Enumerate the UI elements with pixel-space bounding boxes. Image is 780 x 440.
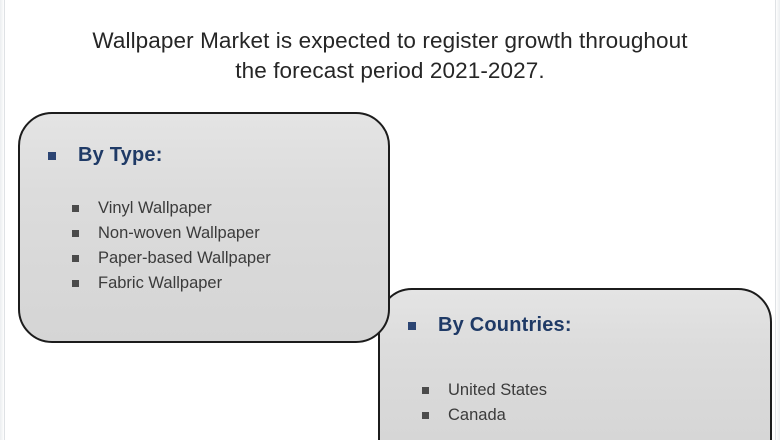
list-item: United States — [422, 378, 547, 403]
list-item-label: Vinyl Wallpaper — [98, 199, 212, 218]
by-type-heading-row: By Type: — [48, 144, 163, 167]
square-bullet-icon — [72, 230, 79, 237]
by-countries-heading: By Countries: — [438, 314, 572, 337]
callout-by-type: By Type: Vinyl Wallpaper Non-woven Wallp… — [18, 112, 390, 343]
square-bullet-icon — [422, 412, 429, 419]
list-item: Paper-based Wallpaper — [72, 246, 271, 271]
by-countries-list: United States Canada — [422, 378, 547, 428]
list-item-label: Canada — [448, 406, 506, 425]
page-right-rule — [775, 0, 776, 440]
page-left-edge — [0, 0, 4, 440]
square-bullet-icon — [72, 280, 79, 287]
list-item-label: Non-woven Wallpaper — [98, 224, 260, 243]
square-bullet-icon — [408, 322, 416, 330]
by-type-heading: By Type: — [78, 144, 163, 167]
square-bullet-icon — [422, 387, 429, 394]
list-item: Canada — [422, 403, 547, 428]
list-item: Fabric Wallpaper — [72, 271, 271, 296]
square-bullet-icon — [48, 152, 56, 160]
square-bullet-icon — [72, 205, 79, 212]
list-item-label: Fabric Wallpaper — [98, 274, 222, 293]
square-bullet-icon — [72, 255, 79, 262]
list-item-label: United States — [448, 381, 547, 400]
by-type-list: Vinyl Wallpaper Non-woven Wallpaper Pape… — [72, 196, 271, 296]
page-right-edge — [776, 0, 780, 440]
callout-by-countries: By Countries: United States Canada — [378, 288, 772, 440]
list-item-label: Paper-based Wallpaper — [98, 249, 271, 268]
list-item: Vinyl Wallpaper — [72, 196, 271, 221]
slide-canvas: Wallpaper Market is expected to register… — [0, 0, 780, 440]
page-left-rule — [4, 0, 5, 440]
list-item: Non-woven Wallpaper — [72, 221, 271, 246]
slide-title: Wallpaper Market is expected to register… — [30, 26, 750, 86]
by-countries-heading-row: By Countries: — [408, 314, 572, 337]
